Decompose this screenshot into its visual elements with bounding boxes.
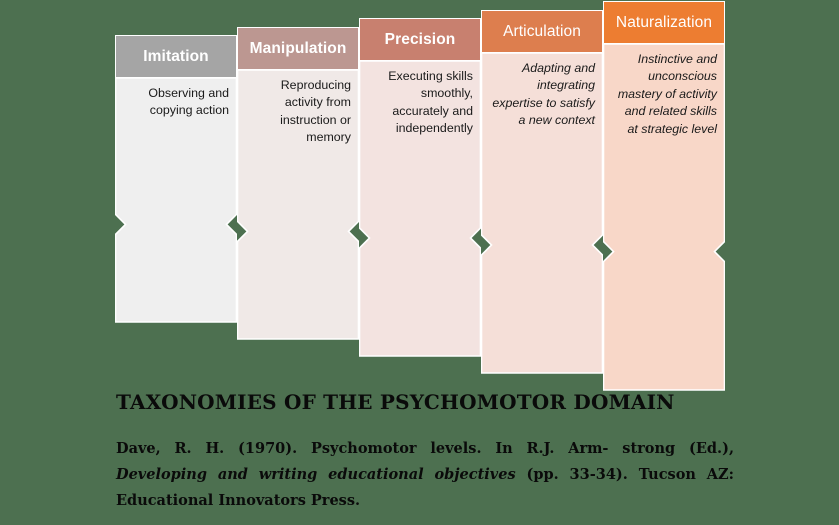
- page-title: TAXONOMIES OF THE PSYCHOMOTOR DOMAIN: [116, 390, 796, 414]
- funnel-column-manipulation[interactable]: ManipulationReproducing activity from in…: [237, 0, 359, 392]
- citation-text-part2: (pp. 33-34). Tucson AZ:: [527, 466, 734, 483]
- funnel-header-label-articulation: Articulation: [503, 23, 581, 41]
- funnel-body-text-manipulation: Reproducing activity from instruction or…: [237, 77, 359, 147]
- funnel-header-manipulation[interactable]: Manipulation: [237, 27, 359, 70]
- funnel-column-precision[interactable]: PrecisionExecuting skills smoothly, accu…: [359, 0, 481, 392]
- funnel-header-imitation[interactable]: Imitation: [115, 35, 237, 78]
- citation-text-part1: Dave, R. H. (1970). Psychomotor levels. …: [116, 440, 734, 457]
- citation-text-part3: Educational Innovators Press.: [116, 492, 360, 509]
- funnel-header-label-precision: Precision: [385, 31, 456, 49]
- funnel-header-label-manipulation: Manipulation: [250, 40, 347, 58]
- funnel-column-imitation[interactable]: ImitationObserving and copying action: [115, 0, 237, 392]
- funnel-header-label-naturalization: Naturalization: [616, 14, 712, 32]
- funnel-header-precision[interactable]: Precision: [359, 18, 481, 61]
- funnel-header-naturalization[interactable]: Naturalization: [603, 1, 725, 44]
- funnel-body-text-articulation: Adapting and integrating expertise to sa…: [481, 60, 603, 130]
- citation-reference: Dave, R. H. (1970). Psychomotor levels. …: [116, 436, 734, 514]
- psychomotor-domain-funnel: ImitationObserving and copying actionMan…: [115, 0, 727, 392]
- funnel-body-text-naturalization: Instinctive and unconscious mastery of a…: [603, 51, 725, 138]
- funnel-column-naturalization[interactable]: NaturalizationInstinctive and unconsciou…: [603, 0, 725, 392]
- funnel-header-articulation[interactable]: Articulation: [481, 10, 603, 53]
- funnel-body-text-imitation: Observing and copying action: [115, 85, 237, 120]
- funnel-column-shape-articulation: [481, 0, 603, 392]
- funnel-column-articulation[interactable]: ArticulationAdapting and integrating exp…: [481, 0, 603, 392]
- funnel-body-text-precision: Executing skills smoothly, accurately an…: [359, 68, 481, 138]
- slide-canvas: ImitationObserving and copying actionMan…: [0, 0, 839, 525]
- funnel-header-label-imitation: Imitation: [143, 48, 208, 66]
- citation-text-italic: Developing and writing educational objec…: [116, 466, 516, 483]
